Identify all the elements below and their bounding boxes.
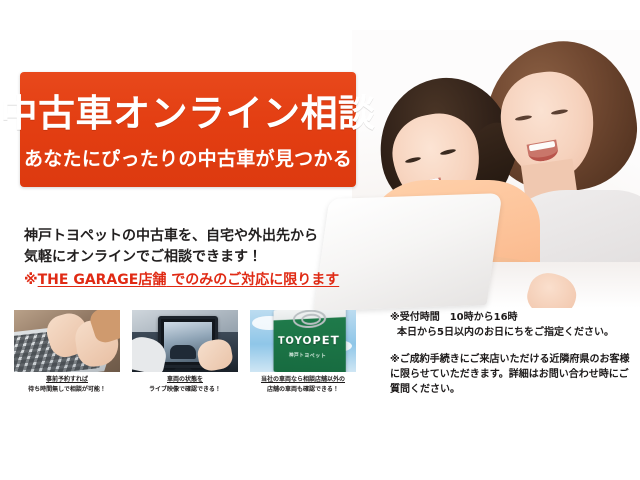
lead-text-block: 神戸トヨペットの中古車を、自宅や外出先から 気軽にオンラインでご相談できます！ … bbox=[24, 226, 344, 291]
toyopet-signboard: TOYOPET 神戸トヨペット bbox=[274, 310, 346, 372]
feature-thumbnail-row: 事前予約すれば 待ち時間無しで相談が可能！ 車両の状態を ライブ映像で確認できる… bbox=[14, 310, 358, 406]
note-hours-line: ※受付時間 10時から16時 bbox=[390, 310, 634, 325]
feature-caption-line2: 待ち時間無しで相談が可能！ bbox=[28, 386, 106, 394]
banner-title: 中古車オンライン相談 bbox=[1, 95, 376, 132]
feature-caption-line1: 当社の車両なら相談店舗以外の bbox=[261, 376, 345, 384]
feature-caption-line1: 車両の状態を bbox=[149, 376, 221, 384]
feature-item-reservation: 事前予約すれば 待ち時間無しで相談が可能！ bbox=[14, 310, 120, 406]
feature-caption-line2: 店舗の車両も確認できる！ bbox=[261, 386, 345, 394]
note-hours-block: ※受付時間 10時から16時 本日から5日以内のお日にちをご指定ください。 bbox=[390, 310, 634, 340]
feature-caption: 車両の状態を ライブ映像で確認できる！ bbox=[149, 376, 221, 394]
promo-banner: 中古車オンライン相談 あなたにぴったりの中古車が見つかる bbox=[20, 72, 356, 187]
toyota-emblem-icon bbox=[293, 310, 326, 328]
feature-caption: 事前予約すれば 待ち時間無しで相談が可能！ bbox=[28, 376, 106, 394]
banner-subtitle: あなたにぴったりの中古車が見つかる bbox=[24, 150, 352, 169]
feature-item-live-view: 車両の状態を ライブ映像で確認できる！ bbox=[132, 310, 238, 406]
lead-restriction-note: ※THE GARAGE店舗 でのみのご対応に限ります bbox=[24, 270, 344, 291]
note-contract-restriction: ※ご成約手続きにご来店いただける近隣府県のお客様に限らせていただきます。詳細はお… bbox=[390, 352, 634, 397]
toyopet-sign-photo: TOYOPET 神戸トヨペット bbox=[250, 310, 356, 372]
feature-caption-line1: 事前予約すれば bbox=[28, 376, 106, 384]
sign-sub-text: 神戸トヨペット bbox=[274, 351, 346, 360]
tablet-live-view-photo bbox=[132, 310, 238, 372]
note-mark: ※ bbox=[24, 272, 38, 288]
feature-item-other-stores: TOYOPET 神戸トヨペット 当社の車両なら相談店舗以外の 店舗の車両も確認で… bbox=[250, 310, 356, 406]
feature-caption-line2: ライブ映像で確認できる！ bbox=[149, 386, 221, 394]
lead-line-1: 神戸トヨペットの中古車を、自宅や外出先から bbox=[24, 226, 344, 247]
lead-line-2: 気軽にオンラインでご相談できます！ bbox=[24, 247, 344, 268]
note-rest: でのみのご対応に限ります bbox=[166, 272, 339, 288]
note-store-name: THE GARAGE店舗 bbox=[38, 272, 167, 288]
sign-brand-text: TOYOPET bbox=[274, 333, 346, 347]
laptop-keyboard-photo bbox=[14, 310, 120, 372]
feature-caption: 当社の車両なら相談店舗以外の 店舗の車両も確認できる！ bbox=[261, 376, 345, 394]
notes-block: ※受付時間 10時から16時 本日から5日以内のお日にちをご指定ください。 ※ご… bbox=[390, 310, 634, 397]
promo-page: 中古車オンライン相談 あなたにぴったりの中古車が見つかる 神戸トヨペットの中古車… bbox=[0, 0, 640, 480]
note-booking-window-line: 本日から5日以内のお日にちをご指定ください。 bbox=[390, 325, 634, 340]
